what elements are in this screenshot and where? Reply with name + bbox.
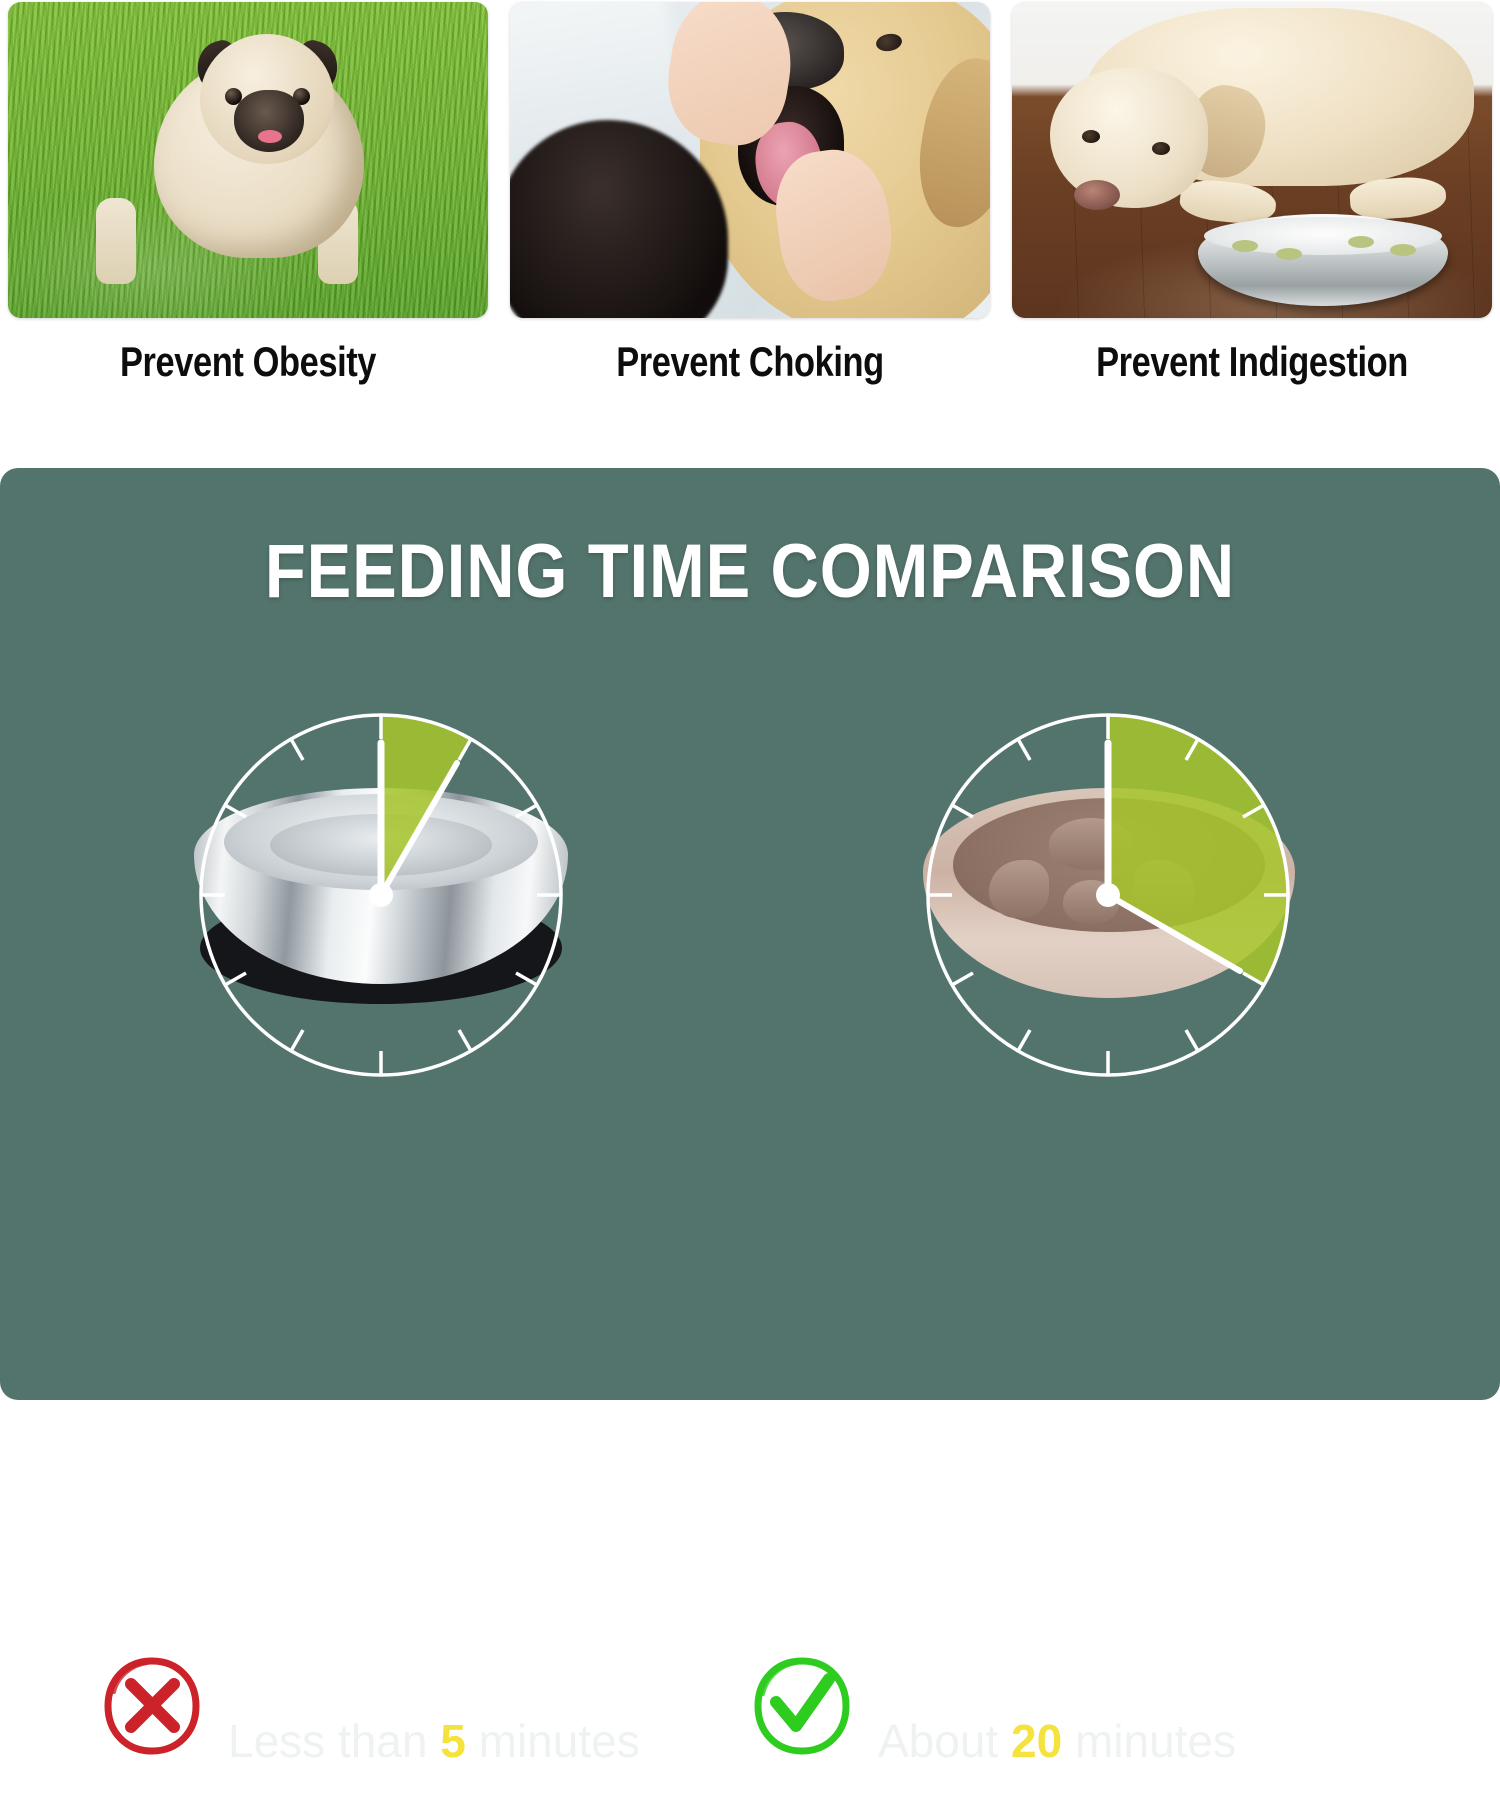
verdict-sub-suffix: minutes	[466, 1715, 640, 1767]
verdict-subtitle-slow: About 20 minutes	[878, 1712, 1398, 1770]
kibble-piece	[1390, 244, 1416, 256]
benefit-caption-obesity: Prevent Obesity	[51, 338, 445, 386]
clock-face-slow	[893, 680, 1323, 1110]
clock-dial-slow-feeding-bowl	[893, 680, 1323, 1110]
person-head-silhouette	[510, 120, 728, 318]
pug-front-leg-left	[96, 198, 136, 284]
feeding-time-comparison-panel: FEEDING TIME COMPARISON	[0, 468, 1500, 1400]
verdict-minutes-value: 5	[440, 1715, 466, 1767]
clock-dial-normal-bowl	[166, 680, 596, 1110]
verdict-title-normal: Normal Bowl	[228, 1646, 640, 1712]
labrador-nose	[1074, 180, 1120, 210]
pug-tongue	[258, 130, 282, 143]
verdict-subtitle-normal: Less than 5 minutes	[228, 1712, 640, 1770]
benefits-strip: Prevent Obesity Prevent Choking	[0, 0, 1500, 466]
labrador-head	[1050, 68, 1208, 208]
benefit-caption-choking: Prevent Choking	[553, 338, 947, 386]
verdict-sub-suffix: minutes	[1062, 1715, 1236, 1767]
kibble-piece	[1348, 236, 1374, 248]
photo-dog-choking-check	[510, 2, 990, 318]
clock-center-hub	[369, 883, 393, 907]
photo-lying-labrador-with-bowl	[1012, 2, 1492, 318]
check-mark-circle-icon	[750, 1654, 854, 1758]
verdict-slow-feeding-bowl: Slow Feeding Bowl About 20 minutes	[750, 1646, 1470, 1796]
verdict-normal-bowl: Normal Bowl Less than 5 minutes	[100, 1646, 740, 1796]
verdict-sub-prefix: About	[878, 1715, 1011, 1767]
benefit-caption-indigestion: Prevent Indigestion	[1055, 338, 1449, 386]
kibble-piece	[1276, 248, 1302, 260]
clock-center-hub	[1096, 883, 1120, 907]
kibble-piece	[1232, 240, 1258, 252]
labrador-eye-right	[1152, 142, 1170, 155]
x-mark-circle-icon	[100, 1654, 204, 1758]
clock-face-normal	[166, 680, 596, 1110]
verdict-minutes-value: 20	[1011, 1715, 1062, 1767]
photo-fat-pug-on-grass	[8, 2, 488, 318]
page-title: FEEDING TIME COMPARISON	[90, 528, 1410, 615]
verdict-sub-prefix: Less than	[228, 1715, 440, 1767]
verdict-title-slow: Slow Feeding Bowl	[878, 1646, 1398, 1712]
labrador-eye-left	[1082, 130, 1100, 143]
